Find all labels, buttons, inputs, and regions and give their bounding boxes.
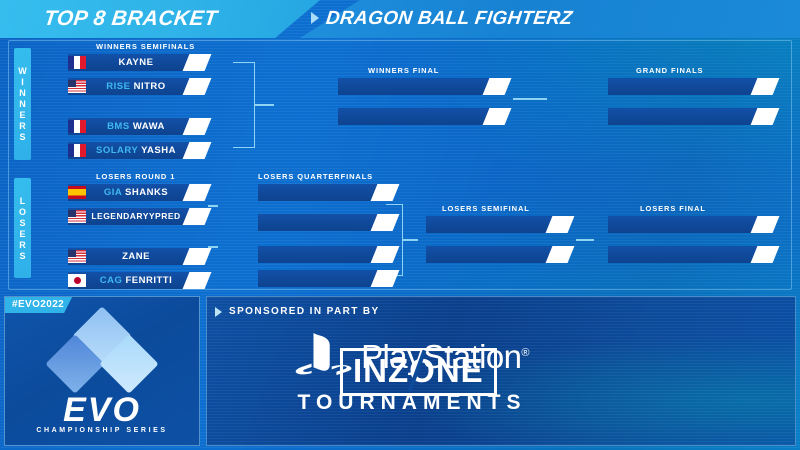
table-row[interactable]: [608, 78, 786, 95]
side-label-letter: O: [19, 207, 26, 217]
table-row[interactable]: [338, 108, 518, 125]
table-row[interactable]: [258, 270, 406, 287]
table-row[interactable]: BMS WAWA: [68, 118, 218, 135]
player-name: [628, 78, 752, 95]
sponsor-label: SPONSORED IN PART BY: [229, 306, 380, 317]
broadcast-overlay: TOP 8 BRACKET DRAGON BALL FIGHTERZ WINNE…: [0, 0, 800, 450]
side-label-letter: N: [19, 88, 26, 98]
table-row[interactable]: RISE NITRO: [68, 78, 218, 95]
side-label-letter: R: [19, 121, 26, 131]
flag-icon-es: [68, 186, 86, 199]
team-prefix: CAG: [100, 275, 123, 286]
evo-diamond-logo-icon: [42, 313, 162, 391]
connector-winners-final-out: [513, 98, 547, 100]
side-label-letter: S: [19, 132, 25, 142]
side-label-letter: E: [19, 229, 25, 239]
header-bar: TOP 8 BRACKET DRAGON BALL FIGHTERZ: [0, 0, 800, 38]
table-row[interactable]: ZANE: [68, 248, 218, 265]
player-name: [628, 108, 752, 125]
table-row[interactable]: [608, 246, 786, 263]
flag-icon-us: [68, 80, 86, 93]
player-name: SOLARY YASHA: [88, 142, 184, 159]
table-row[interactable]: [338, 78, 518, 95]
player-label: WAWA: [133, 121, 165, 132]
round-label-grand-finals: GRAND FINALS: [636, 66, 703, 75]
table-row[interactable]: [258, 246, 406, 263]
table-row[interactable]: [608, 108, 786, 125]
side-label-letter: E: [19, 110, 25, 120]
player-label: YASHA: [141, 145, 176, 156]
player-name: [442, 246, 547, 263]
player-name: [442, 216, 547, 233]
connector-winners-bottom: [233, 147, 255, 148]
player-name: [274, 184, 372, 201]
game-title: DRAGON BALL FIGHTERZ: [325, 8, 574, 30]
connector-losers-semi-out: [576, 239, 594, 241]
side-label-losers: LOSERS: [14, 178, 31, 278]
connector-losers-r1-a: [208, 205, 218, 207]
play-triangle-icon: [311, 12, 319, 24]
flag-icon-fr: [68, 56, 86, 69]
player-label: ZANE: [122, 251, 150, 262]
table-row[interactable]: GIA SHANKS: [68, 184, 218, 201]
side-label-letter: N: [19, 99, 26, 109]
connector-winners-out: [254, 104, 274, 106]
bracket-panel: WINNERS LOSERS WINNERS SEMIFINALS WINNER…: [8, 40, 792, 290]
play-triangle-icon: [215, 307, 222, 317]
footer-bar: #EVO2022 EVO CHAMPIONSHIP SERIES SPONSOR…: [0, 296, 800, 450]
table-row[interactable]: [426, 216, 581, 233]
page-title: TOP 8 BRACKET: [43, 7, 219, 31]
player-name: [358, 108, 484, 125]
round-label-losers-round-1: LOSERS ROUND 1: [96, 172, 175, 181]
player-label: LEGENDARYYPRED: [91, 211, 180, 221]
inzone-wordmark: INZONE: [353, 353, 484, 389]
flag-icon-us: [68, 210, 86, 223]
side-label-letter: W: [18, 66, 27, 76]
sponsor-panel: SPONSORED IN PART BY PlayStation® TOURNA…: [206, 296, 796, 446]
round-label-losers-quarterfinals: LOSERS QUARTERFINALS: [258, 172, 373, 181]
table-row[interactable]: KAYNE: [68, 54, 218, 71]
player-name: RISE NITRO: [88, 78, 184, 95]
team-prefix: RISE: [106, 81, 130, 92]
evo-wordmark: EVO: [5, 393, 199, 427]
flag-icon-us: [68, 250, 86, 263]
side-label-letter: S: [19, 251, 25, 261]
evo-logo-panel: #EVO2022 EVO CHAMPIONSHIP SERIES: [4, 296, 200, 446]
table-row[interactable]: [608, 216, 786, 233]
side-label-winners: WINNERS: [14, 48, 31, 160]
flag-icon-fr: [68, 144, 86, 157]
player-name: GIA SHANKS: [88, 184, 184, 201]
evo-subtitle: CHAMPIONSHIP SERIES: [5, 427, 199, 434]
connector-losers-out: [402, 239, 418, 241]
player-label: NITRO: [134, 81, 166, 92]
flag-icon-fr: [68, 120, 86, 133]
player-name: [274, 246, 372, 263]
player-label: FENRITTI: [126, 275, 173, 286]
side-label-letter: R: [19, 240, 26, 250]
player-name: [274, 214, 372, 231]
player-name: [358, 78, 484, 95]
event-hashtag: #EVO2022: [5, 297, 72, 313]
table-row[interactable]: [258, 214, 406, 231]
round-label-losers-final: LOSERS FINAL: [640, 204, 706, 213]
player-name: [624, 246, 752, 263]
table-row[interactable]: SOLARY YASHA: [68, 142, 218, 159]
player-name: [274, 270, 372, 287]
round-label-losers-semifinal: LOSERS SEMIFINAL: [442, 204, 530, 213]
round-label-winners-final: WINNERS FINAL: [368, 66, 439, 75]
side-label-letter: I: [21, 77, 24, 87]
player-name: CAG FENRITTI: [88, 272, 184, 289]
player-name: ZANE: [88, 248, 184, 265]
team-prefix: SOLARY: [96, 145, 138, 156]
table-row[interactable]: LEGENDARYYPRED: [68, 208, 218, 225]
table-row[interactable]: [426, 246, 581, 263]
team-prefix: BMS: [107, 121, 130, 132]
player-name: BMS WAWA: [88, 118, 184, 135]
player-label: SHANKS: [125, 187, 168, 198]
table-row[interactable]: [258, 184, 406, 201]
connector-losers-top: [386, 204, 403, 205]
side-label-letter: S: [19, 218, 25, 228]
round-label-winners-semifinals: WINNERS SEMIFINALS: [96, 42, 195, 51]
side-label-letter: L: [20, 196, 26, 206]
player-name: KAYNE: [88, 54, 184, 71]
team-prefix: GIA: [104, 187, 122, 198]
table-row[interactable]: CAG FENRITTI: [68, 272, 218, 289]
player-label: KAYNE: [119, 57, 154, 68]
connector-winners-top: [233, 62, 255, 63]
player-name: LEGENDARYYPRED: [88, 208, 184, 225]
player-name: [624, 216, 752, 233]
inzone-logo: INZONE: [340, 348, 497, 396]
flag-icon-jp: [68, 274, 86, 287]
registered-mark-icon: ®: [521, 347, 529, 359]
